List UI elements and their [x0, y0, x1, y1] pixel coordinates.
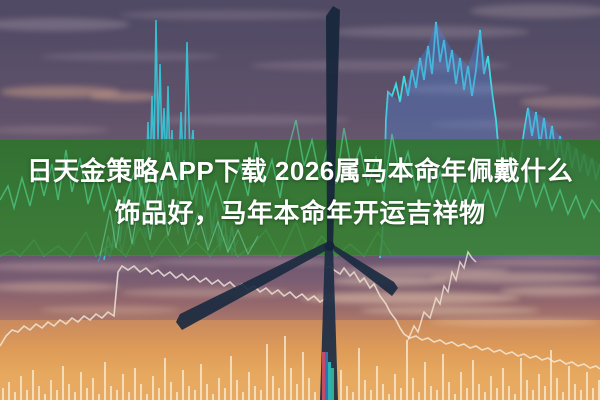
headline-line-1: 日天金策略APP下载 2026属马本命年佩戴什么	[27, 156, 574, 186]
banner-image: 日天金策略APP下载 2026属马本命年佩戴什么 饰品好，马年本命年开运吉祥物	[0, 0, 600, 400]
headline-line-2: 饰品好，马年本命年开运吉祥物	[0, 192, 600, 234]
page-title: 日天金策略APP下载 2026属马本命年佩戴什么 饰品好，马年本命年开运吉祥物	[0, 150, 600, 234]
